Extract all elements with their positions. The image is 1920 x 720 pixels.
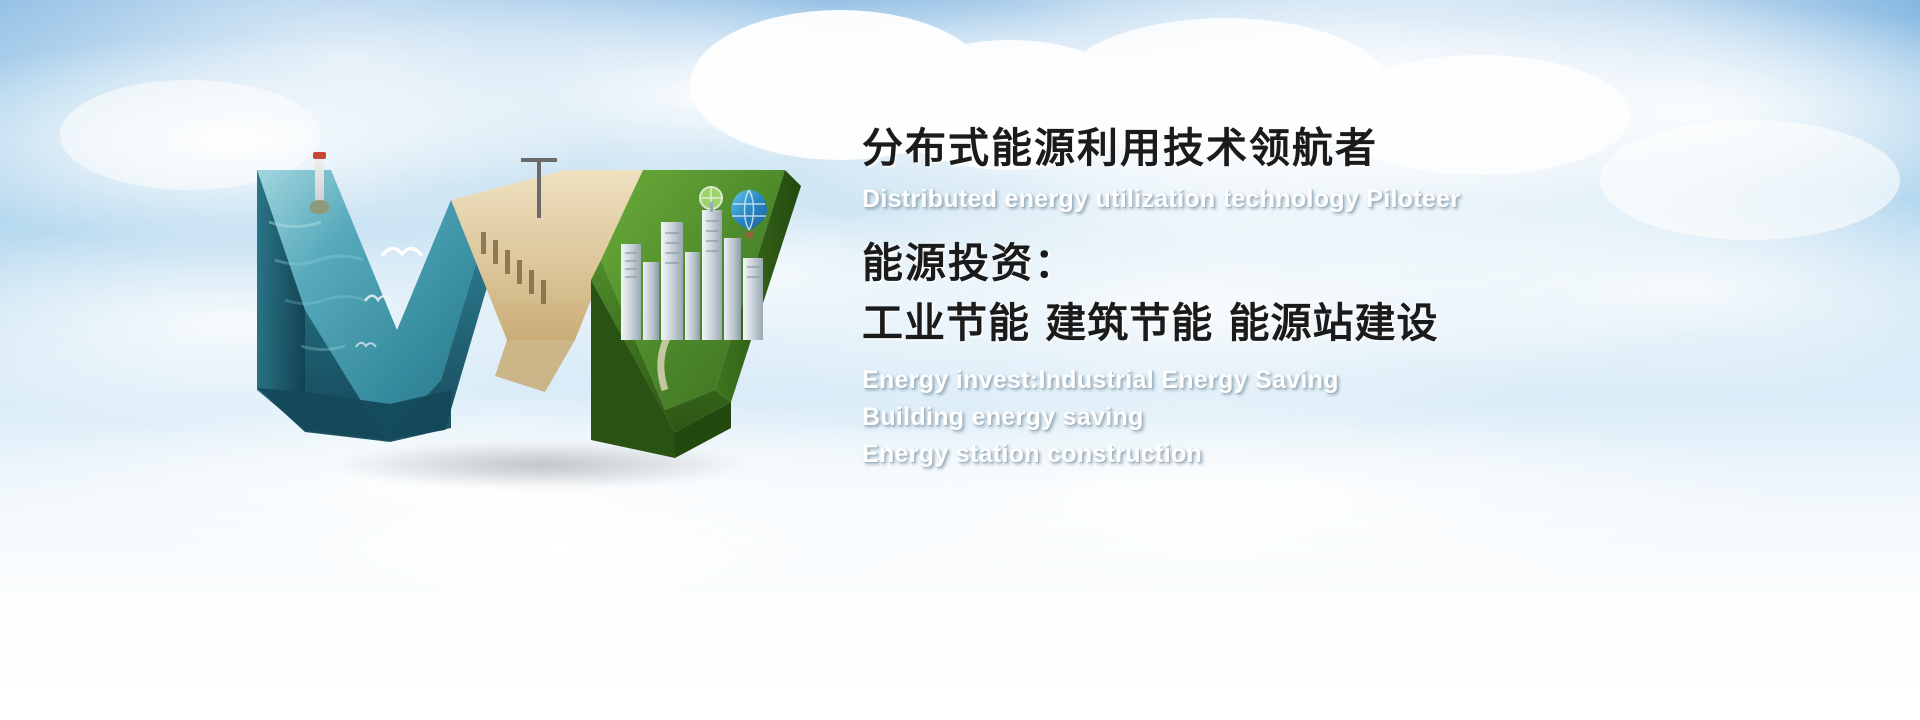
services-list-zh: 工业节能 建筑节能 能源站建设 — [862, 301, 1862, 347]
seagull — [380, 240, 424, 271]
lighthouse — [309, 150, 331, 220]
services-en-line-2: Building energy saving — [862, 402, 1862, 433]
services-en-line-3: Energy station construction — [862, 439, 1862, 470]
seagull — [355, 338, 377, 357]
banner-headline: 分布式能源利用技术领航者 — [862, 126, 1862, 172]
services-en-line-1: Energy invest:Industrial Energy Saving — [862, 365, 1862, 396]
seagull — [363, 290, 393, 313]
banner-text-block: 分布式能源利用技术领航者 Distributed energy utilizat… — [862, 126, 1862, 471]
section-label: 能源投资： — [862, 241, 1862, 287]
banner-subtitle: Distributed energy utilization technolog… — [862, 184, 1862, 215]
ocean-panel — [245, 140, 815, 470]
hot-air-balloon — [729, 188, 769, 240]
w-letter-sculpture — [245, 140, 815, 470]
hero-banner: 分布式能源利用技术领航者 Distributed energy utilizat… — [0, 0, 1920, 720]
